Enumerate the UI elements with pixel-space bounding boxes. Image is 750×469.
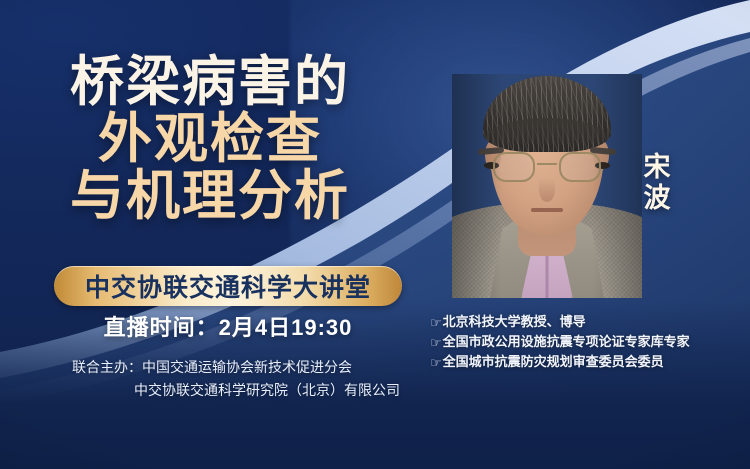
title-line-2: 外观检查	[0, 113, 420, 166]
live-time-label: 直播时间：2月4日19:30	[0, 310, 456, 342]
credential-item: ☞ 全国市政公用设施抗震专项论证专家库专家	[430, 332, 742, 352]
speaker-name-char-1: 宋	[636, 152, 678, 183]
glasses-bridge	[537, 163, 557, 165]
organizers-block: 联合主办：中国交通运输协会新技术促进分会 中交协联交通科学研究院（北京）有限公司	[72, 356, 452, 401]
pointing-hand-icon: ☞	[430, 313, 442, 333]
pointing-hand-icon: ☞	[430, 333, 442, 353]
speaker-name: 宋 波	[636, 152, 678, 215]
credential-text: 全国城市抗震防灾规划审查委员会委员	[443, 352, 664, 372]
series-banner-label: 中交协联交通科学大讲堂	[85, 268, 371, 304]
title-line-1: 桥梁病害的	[0, 56, 420, 109]
speaker-photo	[452, 74, 642, 298]
glasses-lens-right	[559, 152, 601, 182]
organizer-line-1: 联合主办：中国交通运输协会新技术促进分会	[72, 356, 452, 379]
glasses-lens-left	[493, 152, 535, 182]
pointing-hand-icon: ☞	[430, 353, 442, 373]
webinar-poster: 桥梁病害的 外观检查 与机理分析 中交协联交通科学大讲堂 直播时间：2月4日19…	[0, 0, 750, 469]
photo-mouth	[531, 208, 563, 212]
photo-nose	[539, 178, 555, 202]
speaker-name-char-2: 波	[636, 183, 678, 214]
organizer-line-2: 中交协联交通科学研究院（北京）有限公司	[72, 379, 452, 402]
speaker-credentials: ☞ 北京科技大学教授、博导 ☞ 全国市政公用设施抗震专项论证专家库专家 ☞ 全国…	[430, 312, 742, 371]
series-banner: 中交协联交通科学大讲堂	[54, 266, 402, 306]
credential-text: 北京科技大学教授、博导	[443, 312, 586, 332]
credential-text: 全国市政公用设施抗震专项论证专家库专家	[443, 332, 690, 352]
poster-title: 桥梁病害的 外观检查 与机理分析	[0, 56, 420, 227]
credential-item: ☞ 北京科技大学教授、博导	[430, 312, 742, 332]
title-line-3: 与机理分析	[0, 170, 420, 223]
credential-item: ☞ 全国城市抗震防灾规划审查委员会委员	[430, 352, 742, 372]
